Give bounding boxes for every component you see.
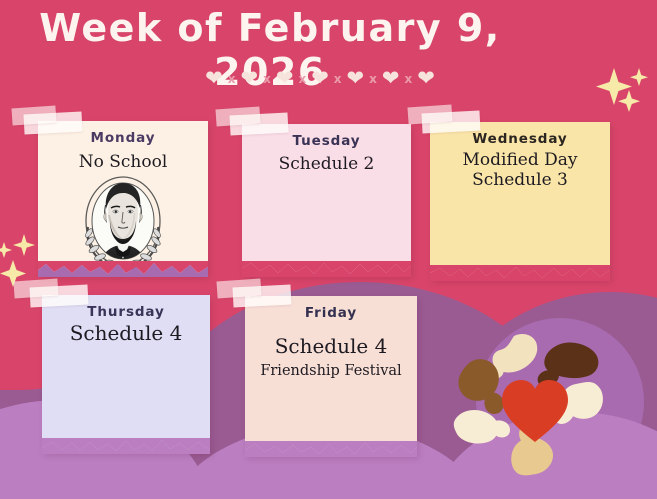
divider-separator-4: x	[334, 72, 342, 86]
tape-strip-underlay	[11, 105, 56, 125]
note-card-wednesday[interactable]: Wednesday Modified Day Schedule 3	[430, 122, 610, 280]
heart-icon: ❤	[311, 68, 329, 89]
note-card-tuesday[interactable]: Tuesday Schedule 2	[242, 124, 411, 276]
abraham-lincoln-portrait-icon	[77, 175, 169, 275]
note-line-monday-1: No School	[38, 152, 208, 172]
torn-edge	[38, 261, 208, 277]
note-card-friday[interactable]: Friday Schedule 4 Friendship Festival	[245, 296, 417, 456]
heart-icon: ❤	[347, 68, 365, 89]
torn-edge	[430, 265, 610, 281]
tape-strip-underlay	[215, 106, 260, 126]
sparkle-cluster-right	[592, 62, 652, 124]
heart-icon: ❤	[240, 68, 258, 89]
hands-around-heart-illustration	[452, 330, 618, 480]
poster-canvas: Week of February 9, 2026 ❤ x ❤ x ❤ x ❤ x…	[0, 0, 657, 499]
heart-icon: ❤	[382, 68, 400, 89]
note-day-label-friday: Friday	[245, 305, 417, 321]
note-card-thursday[interactable]: Thursday Schedule 4	[42, 295, 210, 453]
note-line-friday-1: Schedule 4	[245, 335, 417, 359]
note-day-label-wednesday: Wednesday	[430, 131, 610, 147]
note-line-thursday-1: Schedule 4	[42, 322, 210, 346]
heart-icon: ❤	[417, 68, 435, 89]
tape-strip-underlay	[13, 278, 58, 298]
heart-divider: ❤ x ❤ x ❤ x ❤ x ❤ x ❤ x ❤	[0, 68, 640, 89]
divider-separator-1: x	[228, 72, 236, 86]
note-line-tuesday-1: Schedule 2	[242, 154, 411, 174]
tape-strip-underlay	[216, 278, 261, 298]
torn-edge	[242, 261, 411, 277]
torn-edge	[245, 441, 417, 457]
tape-strip-underlay	[407, 104, 452, 124]
note-line-wednesday-1: Modified Day	[430, 150, 610, 170]
torn-edge	[42, 438, 210, 454]
heart-icon: ❤	[205, 68, 223, 89]
divider-separator-2: x	[263, 72, 271, 86]
divider-separator-6: x	[405, 72, 413, 86]
heart-icon: ❤	[276, 68, 294, 89]
note-day-label-tuesday: Tuesday	[242, 133, 411, 149]
divider-separator-5: x	[369, 72, 377, 86]
note-line-friday-2: Friendship Festival	[245, 363, 417, 380]
note-card-monday[interactable]: Monday No School	[38, 121, 208, 276]
note-day-label-thursday: Thursday	[42, 304, 210, 320]
hand-cream-top-left	[493, 334, 538, 373]
divider-separator-3: x	[298, 72, 306, 86]
heart-illustration-icon	[502, 380, 568, 442]
note-line-wednesday-2: Schedule 3	[430, 170, 610, 190]
